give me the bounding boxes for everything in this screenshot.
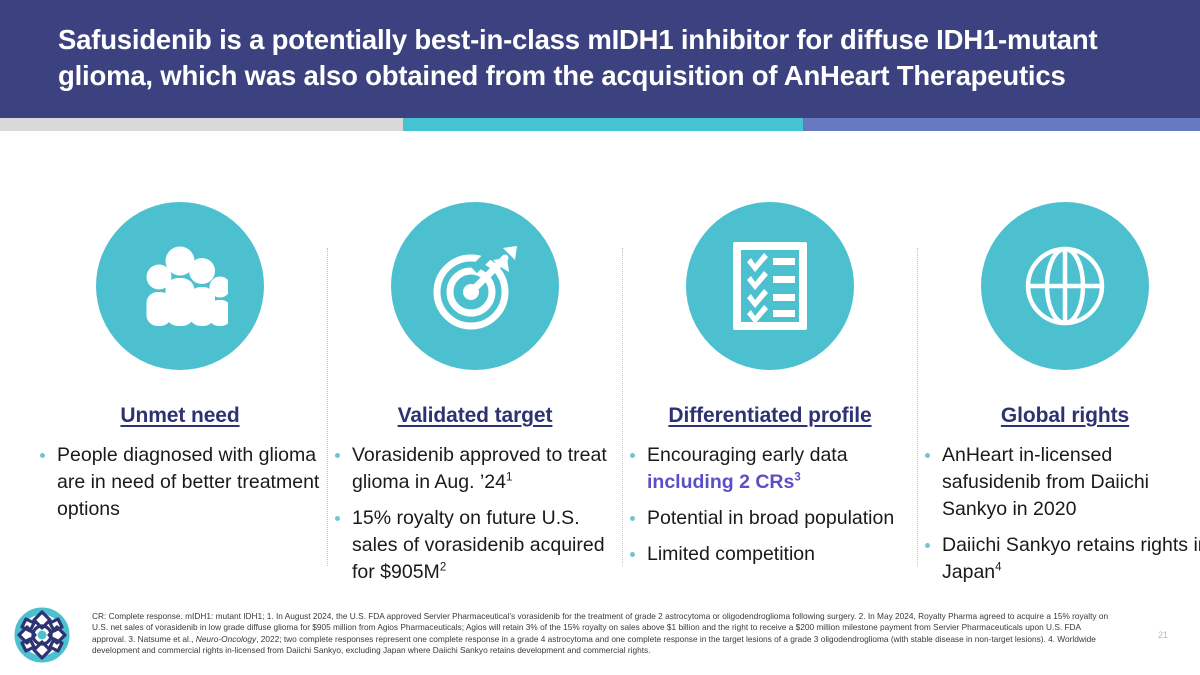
icon-circle-3 [686,202,854,370]
list-item: Potential in broad population [625,505,915,532]
icon-circle-2 [391,202,559,370]
checklist-icon [731,240,809,332]
page-title: Safusidenib is a potentially best-in-cla… [58,22,1148,94]
accent-segment-gray [0,118,403,131]
column-heading: Validated target [330,404,620,428]
bullet-list: AnHeart in-licensed safusidenib from Dai… [920,442,1200,586]
company-logo-icon [14,607,70,663]
icon-circle-1 [96,202,264,370]
accent-bar [0,118,1200,131]
list-item: 15% royalty on future U.S. sales of vora… [330,505,620,586]
page-number: 21 [1148,630,1178,640]
target-arrow-icon [429,240,521,332]
accent-segment-teal [403,118,803,131]
bullet-list: Encouraging early data including 2 CRs3 … [625,442,915,568]
slide-header: Safusidenib is a potentially best-in-cla… [0,0,1200,118]
footnote-ref: 4 [995,562,1001,574]
journal-name: Neuro-Oncology [196,634,256,644]
column-unmet-need: Unmet need People diagnosed with glioma … [35,150,325,532]
content-columns: Unmet need People diagnosed with glioma … [0,150,1200,590]
column-heading: Differentiated profile [625,404,915,428]
column-heading: Global rights [920,404,1200,428]
people-group-icon [132,244,228,328]
column-global-rights: Global rights AnHeart in-licensed safusi… [920,150,1200,595]
slide-footer: CR: Complete response. mIDH1: mutant IDH… [0,600,1200,675]
list-item: Vorasidenib approved to treat glioma in … [330,442,620,496]
footnote-ref: 2 [440,562,446,574]
icon-circle-4 [981,202,1149,370]
list-item: Limited competition [625,541,915,568]
list-item: People diagnosed with glioma are in need… [35,442,325,523]
list-item: AnHeart in-licensed safusidenib from Dai… [920,442,1200,523]
column-heading: Unmet need [35,404,325,428]
bullet-list: Vorasidenib approved to treat glioma in … [330,442,620,586]
list-item: Encouraging early data including 2 CRs3 [625,442,915,496]
highlighted-text: including 2 CRs [647,471,794,493]
footnote-text: CR: Complete response. mIDH1: mutant IDH… [92,611,1112,656]
footnote-ref: 3 [794,472,800,484]
accent-segment-blue [803,118,1200,131]
column-validated-target: Validated target Vorasidenib approved to… [330,150,620,595]
column-differentiated-profile: Differentiated profile Encouraging early… [625,150,915,577]
slide: Safusidenib is a potentially best-in-cla… [0,0,1200,675]
list-item: Daiichi Sankyo retains rights in Japan4 [920,532,1200,586]
footnote-ref: 1 [506,472,512,484]
globe-icon [1022,243,1108,329]
bullet-list: People diagnosed with glioma are in need… [35,442,325,523]
